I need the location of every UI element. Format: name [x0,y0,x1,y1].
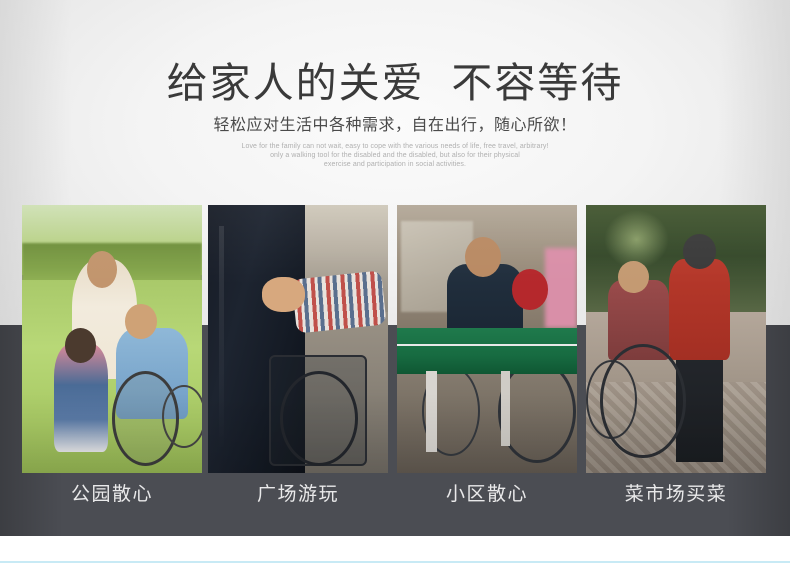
photo-caption-1: 公园散心 [22,479,202,511]
photo-captions: 公园散心 广场游玩 小区散心 菜市场买菜 [0,473,790,536]
photo-caption-3: 小区散心 [397,479,577,511]
english-line-3: exercise and participation in social act… [0,160,790,169]
photo-grade-overlay [208,205,388,473]
page-subtitle: 轻松应对生活中各种需求，自在出行，随心所欲！ [0,114,790,138]
photo-grade-overlay [22,205,202,473]
photo-scene [397,205,577,473]
photo-scene [586,205,766,473]
page-title: 给家人的关爱 不容等待 [0,58,790,108]
photo-gallery [0,205,790,473]
english-line-2: only a walking tool for the disabled and… [0,151,790,160]
photo-caption-4: 菜市场买菜 [586,479,766,511]
photo-market-street-outing [586,205,766,473]
english-line-1: Love for the family can not wait, easy t… [0,142,790,151]
promo-banner: 给家人的关爱 不容等待 轻松应对生活中各种需求，自在出行，随心所欲！ Love … [0,0,790,567]
photo-park-family-wheelchair [22,205,202,473]
photo-scene [22,205,202,473]
photo-scene [208,205,388,473]
photo-table-tennis-player [397,205,577,473]
bottom-divider-rule [0,561,790,563]
english-description: Love for the family can not wait, easy t… [0,142,790,169]
photo-caption-2: 广场游玩 [208,479,388,511]
photo-plaza-helping-hand [208,205,388,473]
photo-grade-overlay [586,205,766,473]
photo-grade-overlay [397,205,577,473]
